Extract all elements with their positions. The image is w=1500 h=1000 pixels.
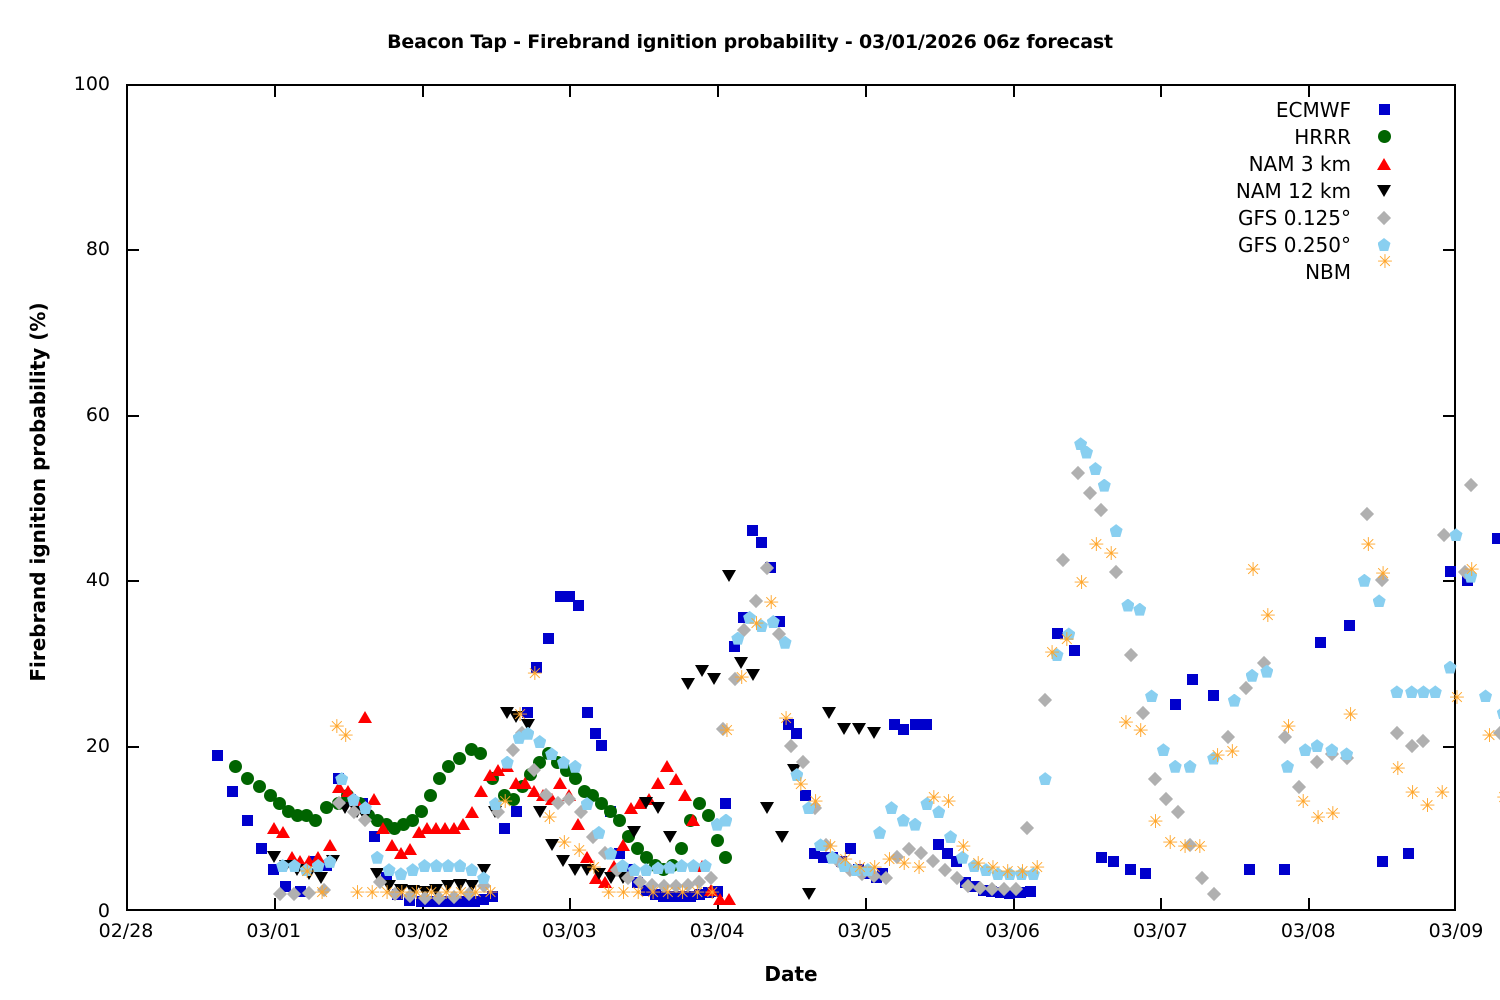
data-point xyxy=(722,570,736,582)
legend-item-nam-12-km[interactable]: NAM 12 km xyxy=(1160,177,1395,204)
data-point xyxy=(1299,743,1312,756)
data-point xyxy=(371,851,384,864)
x-tick-label: 03/02 xyxy=(362,920,482,942)
legend-label: NBM xyxy=(1305,260,1373,284)
data-point xyxy=(1479,689,1492,702)
data-point xyxy=(897,814,910,827)
data-point xyxy=(383,863,396,876)
data-point xyxy=(1244,864,1255,875)
x-tick-label: 03/04 xyxy=(657,920,777,942)
data-point xyxy=(885,801,898,814)
data-point xyxy=(415,805,428,818)
data-point xyxy=(1344,620,1355,631)
data-point xyxy=(1207,887,1221,901)
legend-marker-glyph xyxy=(1377,210,1391,224)
data-point xyxy=(1239,681,1253,695)
data-point xyxy=(898,724,909,735)
data-point xyxy=(376,822,390,834)
data-point xyxy=(910,719,921,730)
data-point xyxy=(406,863,419,876)
legend-label: ECMWF xyxy=(1276,98,1373,122)
legend-item-hrrr[interactable]: HRRR xyxy=(1160,123,1395,150)
legend-item-nbm[interactable]: NBM✳ xyxy=(1160,258,1395,285)
data-point xyxy=(212,750,223,761)
data-point xyxy=(569,760,582,773)
data-point xyxy=(1082,486,1096,500)
legend-label: NAM 12 km xyxy=(1236,179,1373,203)
x-tick-label: 03/06 xyxy=(953,920,1073,942)
data-point xyxy=(1311,739,1324,752)
data-point xyxy=(1145,689,1158,702)
data-point xyxy=(1315,637,1326,648)
data-point xyxy=(1121,599,1134,612)
data-point xyxy=(442,760,455,773)
data-point xyxy=(660,760,674,772)
legend-item-gfs-0-250[interactable]: GFS 0.250° xyxy=(1160,231,1395,258)
data-point xyxy=(227,786,238,797)
data-point xyxy=(1184,760,1197,773)
legend-item-gfs-0-125[interactable]: GFS 0.125° xyxy=(1160,204,1395,231)
data-point xyxy=(837,723,851,735)
chart-title: Beacon Tap - Firebrand ignition probabil… xyxy=(0,31,1500,53)
data-point xyxy=(590,728,601,739)
data-point xyxy=(430,859,443,872)
data-point xyxy=(1125,864,1136,875)
data-point xyxy=(1110,524,1123,537)
data-point xyxy=(1377,856,1388,867)
data-point xyxy=(1056,552,1070,566)
data-point xyxy=(1170,699,1181,710)
data-point xyxy=(1445,566,1456,577)
y-tick-label: 0 xyxy=(14,900,110,922)
data-point xyxy=(1071,466,1085,480)
data-point xyxy=(1157,743,1170,756)
data-point xyxy=(873,826,886,839)
data-point xyxy=(323,839,337,851)
legend-item-ecmwf[interactable]: ECMWF xyxy=(1160,96,1395,123)
data-point xyxy=(1147,772,1161,786)
triangle-down-marker-icon xyxy=(1373,180,1395,202)
data-point xyxy=(1089,462,1102,475)
data-point xyxy=(1228,694,1241,707)
data-point xyxy=(501,756,514,769)
data-point xyxy=(1109,565,1123,579)
data-point xyxy=(276,826,290,838)
chart-legend: ECMWFHRRRNAM 3 kmNAM 12 kmGFS 0.125°GFS … xyxy=(1160,96,1395,285)
data-point xyxy=(1405,685,1418,698)
asterisk-marker-icon: ✳ xyxy=(1373,261,1395,283)
data-point xyxy=(1025,886,1036,897)
x-tick-label: 03/01 xyxy=(214,920,334,942)
data-point xyxy=(719,851,732,864)
data-point xyxy=(675,842,688,855)
data-point xyxy=(613,814,626,827)
data-point xyxy=(1390,685,1403,698)
data-point xyxy=(1171,805,1185,819)
data-point xyxy=(241,772,254,785)
data-point xyxy=(747,525,758,536)
data-point xyxy=(1444,661,1457,674)
data-point xyxy=(720,798,731,809)
x-tick-label: 03/09 xyxy=(1396,920,1500,942)
data-point xyxy=(474,785,488,797)
data-point xyxy=(533,735,546,748)
data-point xyxy=(1492,533,1500,544)
data-point xyxy=(1390,726,1404,740)
data-point xyxy=(253,780,266,793)
legend-label: GFS 0.125° xyxy=(1238,206,1373,230)
data-point xyxy=(784,739,798,753)
data-point xyxy=(582,707,593,718)
legend-marker-glyph xyxy=(1377,158,1391,170)
data-point xyxy=(242,815,253,826)
chart-container: Beacon Tap - Firebrand ignition probabil… xyxy=(0,0,1500,1000)
data-point xyxy=(663,831,677,843)
data-point xyxy=(1437,528,1451,542)
data-point xyxy=(456,818,470,830)
data-point xyxy=(681,678,695,690)
data-point xyxy=(651,777,665,789)
data-point xyxy=(506,743,520,757)
data-point xyxy=(1020,821,1034,835)
data-point xyxy=(702,809,715,822)
x-tick-label: 03/05 xyxy=(805,920,925,942)
data-point xyxy=(756,537,767,548)
data-point xyxy=(418,859,431,872)
square-marker-icon xyxy=(1373,99,1395,121)
data-point xyxy=(592,826,605,839)
data-point xyxy=(453,859,466,872)
legend-marker-glyph xyxy=(1378,130,1391,143)
data-point xyxy=(1360,507,1374,521)
data-point xyxy=(616,839,630,851)
data-point xyxy=(722,893,736,905)
data-point xyxy=(669,773,683,785)
data-point xyxy=(1187,674,1198,685)
data-point xyxy=(453,752,466,765)
data-point xyxy=(543,633,554,644)
legend-label: NAM 3 km xyxy=(1249,152,1373,176)
data-point xyxy=(926,854,940,868)
data-point xyxy=(686,814,700,826)
legend-marker-glyph xyxy=(1377,185,1391,197)
data-point xyxy=(760,802,774,814)
diamond-marker-icon xyxy=(1373,207,1395,229)
data-point xyxy=(711,834,724,847)
data-point xyxy=(394,867,407,880)
data-point xyxy=(403,843,417,855)
data-point xyxy=(571,818,585,830)
data-point xyxy=(1039,772,1052,785)
x-tick-label: 02/28 xyxy=(66,920,186,942)
data-point xyxy=(1450,528,1463,541)
data-point xyxy=(1279,864,1290,875)
legend-item-nam-3-km[interactable]: NAM 3 km xyxy=(1160,150,1395,177)
data-point xyxy=(921,719,932,730)
data-point xyxy=(707,673,721,685)
data-point xyxy=(719,814,732,827)
data-point xyxy=(474,747,487,760)
data-point xyxy=(867,727,881,739)
data-point xyxy=(367,793,381,805)
legend-label: GFS 0.250° xyxy=(1238,233,1373,257)
data-point xyxy=(465,806,479,818)
data-point xyxy=(1195,871,1209,885)
x-tick-label: 03/07 xyxy=(1100,920,1220,942)
data-point xyxy=(748,594,762,608)
data-point xyxy=(1140,868,1151,879)
data-point xyxy=(1281,760,1294,773)
data-point xyxy=(1464,478,1478,492)
data-point xyxy=(627,826,641,838)
data-point xyxy=(1417,685,1430,698)
data-point xyxy=(1098,479,1111,492)
legend-marker-glyph xyxy=(1378,238,1391,251)
data-point xyxy=(1096,852,1107,863)
data-point xyxy=(553,777,567,789)
triangle-up-marker-icon xyxy=(1373,153,1395,175)
data-point xyxy=(852,723,866,735)
data-point xyxy=(678,789,692,801)
data-point xyxy=(1340,747,1353,760)
data-point xyxy=(651,802,665,814)
data-point xyxy=(1310,755,1324,769)
data-point xyxy=(309,814,322,827)
data-point xyxy=(775,831,789,843)
data-point xyxy=(433,772,446,785)
data-point xyxy=(499,823,510,834)
legend-marker-glyph xyxy=(1379,104,1390,115)
data-point xyxy=(573,600,584,611)
x-axis-label: Date xyxy=(126,962,1456,986)
x-tick-label: 03/03 xyxy=(509,920,629,942)
data-point xyxy=(1358,574,1371,587)
data-point xyxy=(424,789,437,802)
data-point xyxy=(1403,848,1414,859)
data-point xyxy=(909,818,922,831)
data-point xyxy=(1108,856,1119,867)
data-point xyxy=(1124,648,1138,662)
data-point xyxy=(1246,669,1259,682)
data-point xyxy=(596,740,607,751)
data-point xyxy=(358,711,372,723)
data-point xyxy=(1169,760,1182,773)
data-point xyxy=(822,707,836,719)
circle-marker-icon xyxy=(1373,126,1395,148)
data-point xyxy=(1429,685,1442,698)
data-point xyxy=(1208,690,1219,701)
data-point xyxy=(693,797,706,810)
y-axis-label: Firebrand ignition probability (%) xyxy=(26,112,50,872)
data-point xyxy=(229,760,242,773)
data-point xyxy=(1159,792,1173,806)
data-point xyxy=(938,863,952,877)
y-tick-label: 100 xyxy=(14,73,110,95)
x-tick-label: 03/08 xyxy=(1248,920,1368,942)
data-point xyxy=(1038,693,1052,707)
data-point xyxy=(1133,603,1146,616)
data-point xyxy=(802,888,816,900)
data-point xyxy=(1373,594,1386,607)
data-point xyxy=(1094,503,1108,517)
legend-label: HRRR xyxy=(1294,125,1373,149)
data-point xyxy=(1136,705,1150,719)
data-point xyxy=(1325,743,1338,756)
data-point xyxy=(569,772,582,785)
data-point xyxy=(442,859,455,872)
